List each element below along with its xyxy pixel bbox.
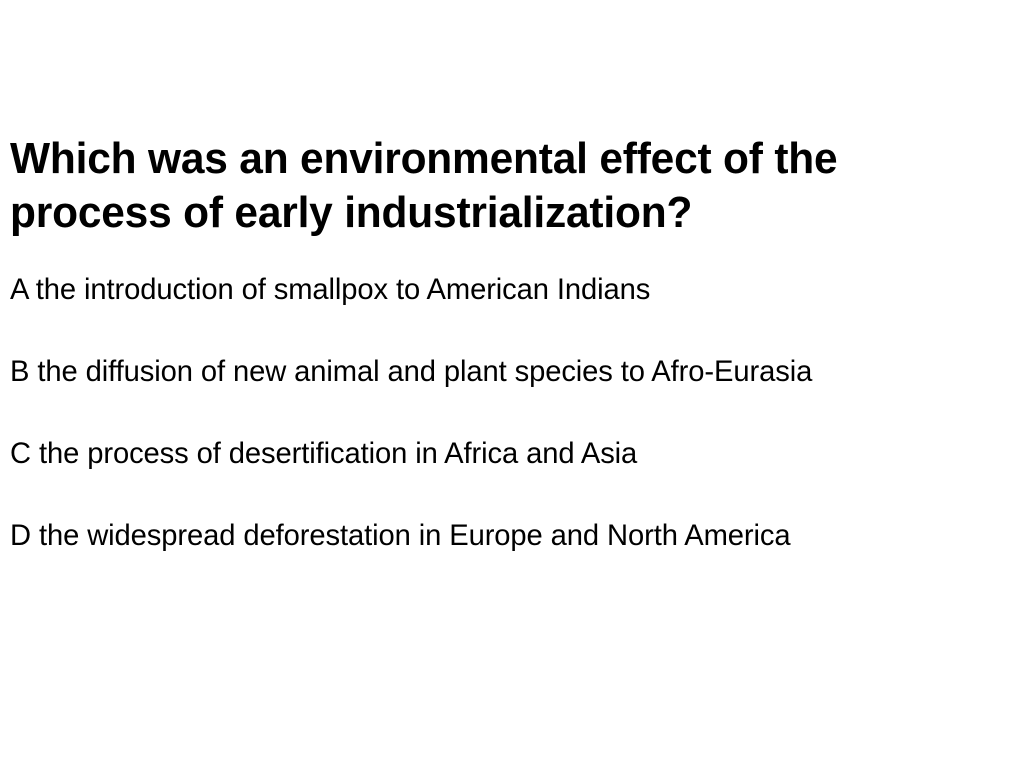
answer-choice-list: A the introduction of smallpox to Americ…: [10, 272, 1014, 600]
answer-choice-c[interactable]: C the process of desertification in Afri…: [10, 436, 986, 518]
answer-choice-d[interactable]: D the widespread deforestation in Europe…: [10, 518, 986, 600]
question-prompt: Which was an environmental effect of the…: [10, 132, 970, 240]
answer-choice-b[interactable]: B the diffusion of new animal and plant …: [10, 354, 986, 436]
question-line-2: process of early industrialization?: [10, 186, 936, 240]
answer-choice-a[interactable]: A the introduction of smallpox to Americ…: [10, 272, 986, 354]
question-line-1: Which was an environmental effect of the: [10, 132, 936, 186]
slide-canvas: Which was an environmental effect of the…: [0, 0, 1024, 768]
